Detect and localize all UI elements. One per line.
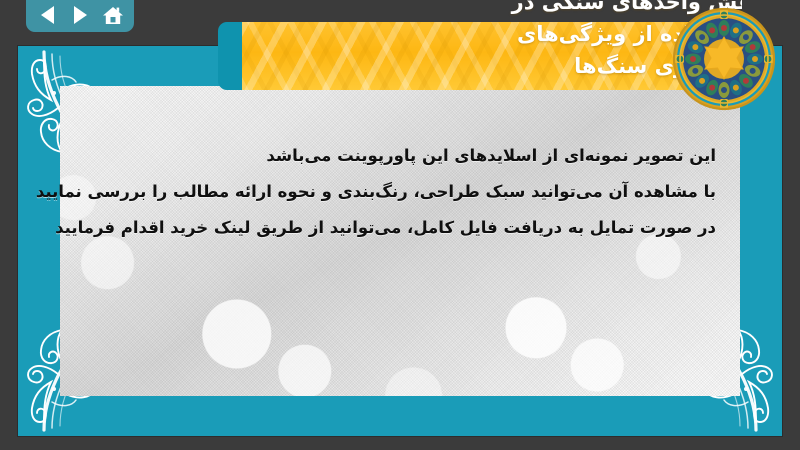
home-button[interactable] bbox=[102, 4, 124, 26]
home-icon bbox=[102, 5, 124, 25]
back-button[interactable] bbox=[36, 4, 58, 26]
slide-preview-stage: این تصویر نمونه‌ای از اسلایدهای این پاور… bbox=[0, 0, 800, 450]
slide-body-text: این تصویر نمونه‌ای از اسلایدهای این پاور… bbox=[100, 138, 716, 246]
persian-mosaic-medallion bbox=[672, 7, 776, 111]
slide-content-panel: این تصویر نمونه‌ای از اسلایدهای این پاور… bbox=[60, 86, 740, 396]
slide-frame: این تصویر نمونه‌ای از اسلایدهای این پاور… bbox=[18, 46, 782, 436]
triangle-left-icon bbox=[41, 6, 54, 24]
triangle-right-icon bbox=[74, 6, 87, 24]
body-line-3: در صورت تمایل به دریافت فایل کامل، می‌تو… bbox=[100, 210, 716, 246]
body-line-2: با مشاهده آن می‌توانید سبک طراحی، رنگ‌بن… bbox=[100, 174, 716, 210]
navigation-toolbar[interactable] bbox=[26, 0, 134, 32]
body-line-1: این تصویر نمونه‌ای از اسلایدهای این پاور… bbox=[100, 138, 716, 174]
forward-button[interactable] bbox=[69, 4, 91, 26]
title-banner bbox=[242, 22, 742, 90]
